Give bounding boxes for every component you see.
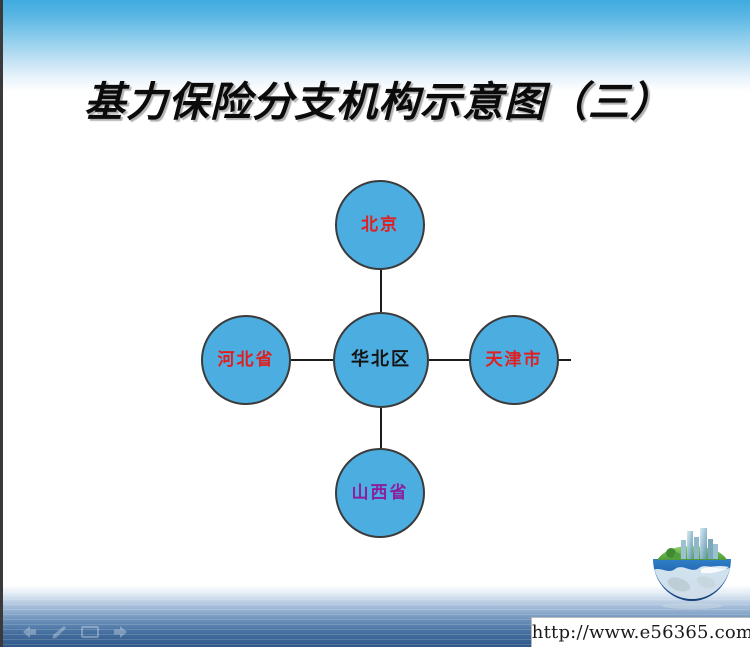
- node-tianjin-label: 天津市: [486, 352, 543, 369]
- globe-city-logo-icon: [643, 527, 741, 611]
- node-tianjin[interactable]: 天津市: [469, 315, 559, 405]
- node-shanxi[interactable]: 山西省: [335, 448, 425, 538]
- presentation-slide: 基力保险分支机构示意图（三） 北京 河北省 华北区 天津市 山西省: [0, 0, 750, 647]
- arrow-right-icon[interactable]: [113, 625, 129, 639]
- website-url-text: http://www.e56365.com: [532, 622, 750, 643]
- node-hebei-label: 河北省: [218, 352, 275, 369]
- website-url-box[interactable]: http://www.e56365.com: [531, 617, 750, 647]
- org-chart-diagram: 北京 河北省 华北区 天津市 山西省: [3, 0, 750, 647]
- connector-center-to-bottom: [380, 408, 382, 448]
- node-huabei-region-label: 华北区: [351, 351, 411, 369]
- node-hebei[interactable]: 河北省: [201, 315, 291, 405]
- node-huabei-region[interactable]: 华北区: [333, 312, 429, 408]
- node-beijing[interactable]: 北京: [335, 180, 425, 270]
- connector-center-to-left: [291, 359, 333, 361]
- connector-center-to-top: [380, 270, 382, 312]
- slide-icon[interactable]: [81, 625, 99, 639]
- slideshow-nav-controls[interactable]: [21, 625, 129, 639]
- pen-icon[interactable]: [51, 625, 67, 639]
- node-shanxi-label: 山西省: [352, 485, 409, 502]
- node-beijing-label: 北京: [361, 217, 399, 234]
- arrow-left-icon[interactable]: [21, 625, 37, 639]
